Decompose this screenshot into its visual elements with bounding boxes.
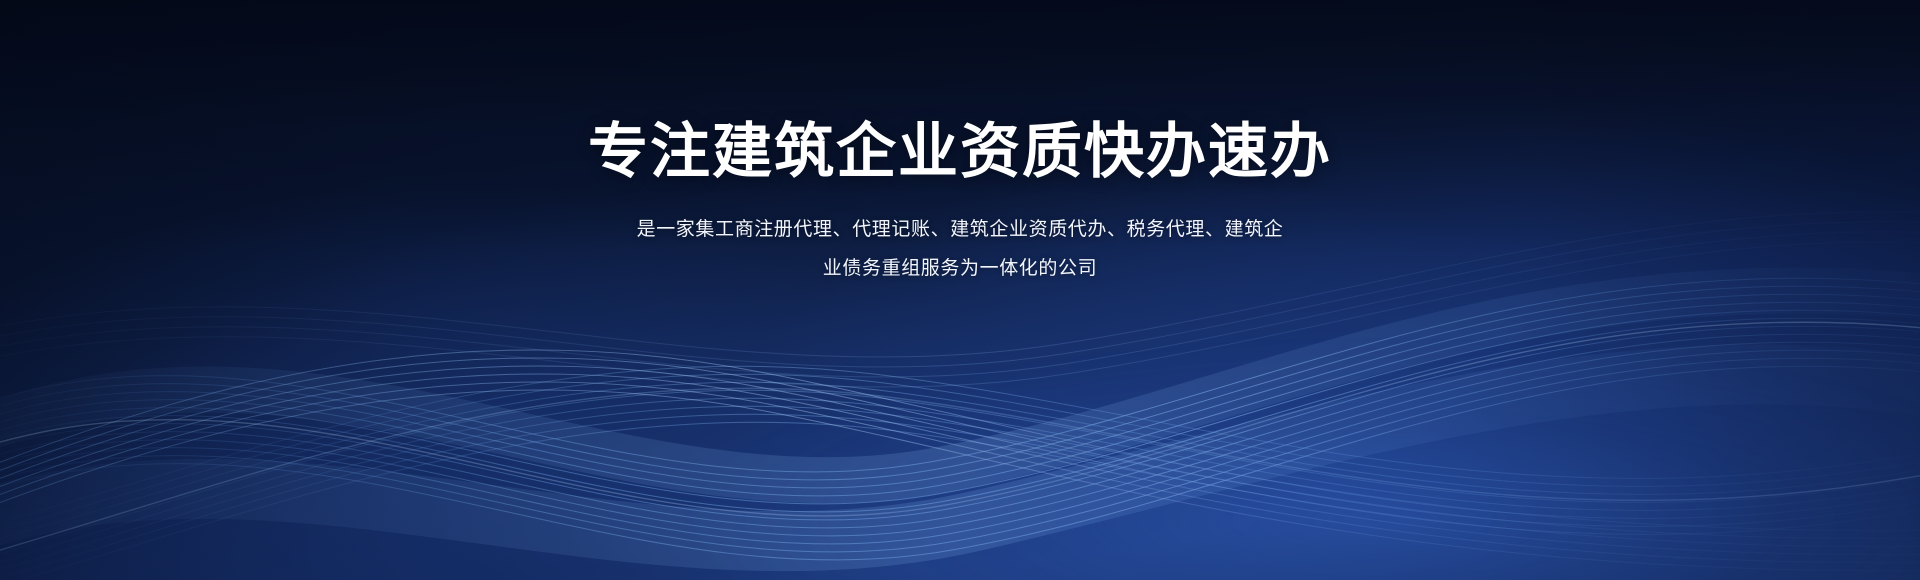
banner-subtitle: 是一家集工商注册代理、代理记账、建筑企业资质代办、税务代理、建筑企 业债务重组服… — [637, 211, 1284, 289]
banner-headline: 专注建筑企业资质快办速办 — [588, 118, 1332, 185]
banner-subtitle-line-2: 业债务重组服务为一体化的公司 — [637, 250, 1284, 289]
banner-subtitle-line-1: 是一家集工商注册代理、代理记账、建筑企业资质代办、税务代理、建筑企 — [637, 211, 1284, 250]
banner-content: 专注建筑企业资质快办速办 是一家集工商注册代理、代理记账、建筑企业资质代办、税务… — [0, 0, 1920, 580]
hero-banner: 专注建筑企业资质快办速办 是一家集工商注册代理、代理记账、建筑企业资质代办、税务… — [0, 0, 1920, 580]
